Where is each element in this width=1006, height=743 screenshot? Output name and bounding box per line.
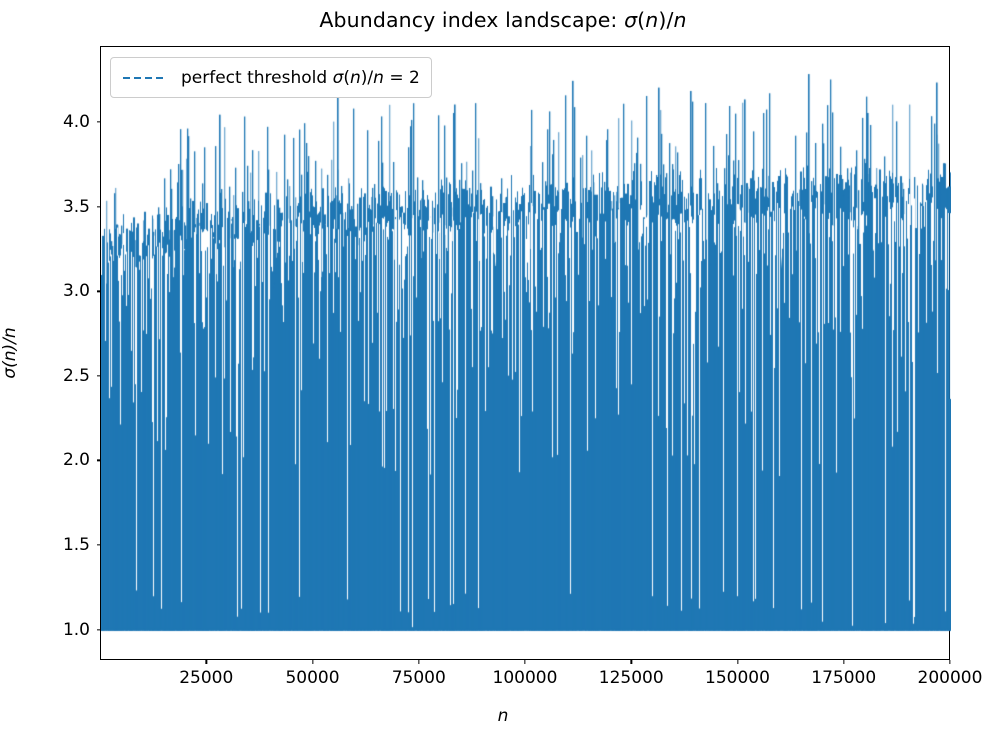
x-tick-label: 200000 [918,668,983,688]
y-tick-mark [97,291,101,292]
x-tick-mark [843,660,844,664]
x-tick-mark [524,660,525,664]
y-tick-label: 4.0 [10,112,90,132]
y-tick-label: 1.5 [10,535,90,555]
y-axis-label: σ(n)/n [0,327,20,378]
plot-axes [100,46,950,660]
y-tick-mark [97,629,101,630]
legend-entry-label: perfect threshold σ(n)/n = 2 [181,68,420,88]
y-tick-label: 2.0 [10,450,90,470]
chart-legend: perfect threshold σ(n)/n = 2 [110,57,432,98]
x-tick-mark [737,660,738,664]
x-tick-mark [949,660,950,664]
x-tick-label: 75000 [392,668,446,688]
y-tick-mark [97,460,101,461]
legend-dashed-line-icon [122,71,168,85]
y-tick-mark [97,206,101,207]
y-tick-mark [97,121,101,122]
x-tick-mark [631,660,632,664]
x-tick-label: 150000 [705,668,770,688]
x-tick-mark [206,660,207,664]
x-tick-label: 50000 [285,668,339,688]
matplotlib-figure: Abundancy index landscape: σ(n)/n 1.01.5… [0,0,1006,743]
y-tick-mark [97,375,101,376]
x-tick-mark [418,660,419,664]
y-tick-label: 1.0 [10,620,90,640]
spike-plot-canvas [101,47,951,661]
x-tick-label: 175000 [811,668,876,688]
y-tick-label: 2.5 [10,366,90,386]
x-axis-label: n [0,706,1006,726]
x-tick-label: 100000 [493,668,558,688]
y-tick-label: 3.5 [10,197,90,217]
x-tick-label: 25000 [179,668,233,688]
x-tick-mark [312,660,313,664]
chart-title: Abundancy index landscape: σ(n)/n [0,8,1006,32]
y-tick-label: 3.0 [10,281,90,301]
x-tick-label: 125000 [599,668,664,688]
y-tick-mark [97,544,101,545]
